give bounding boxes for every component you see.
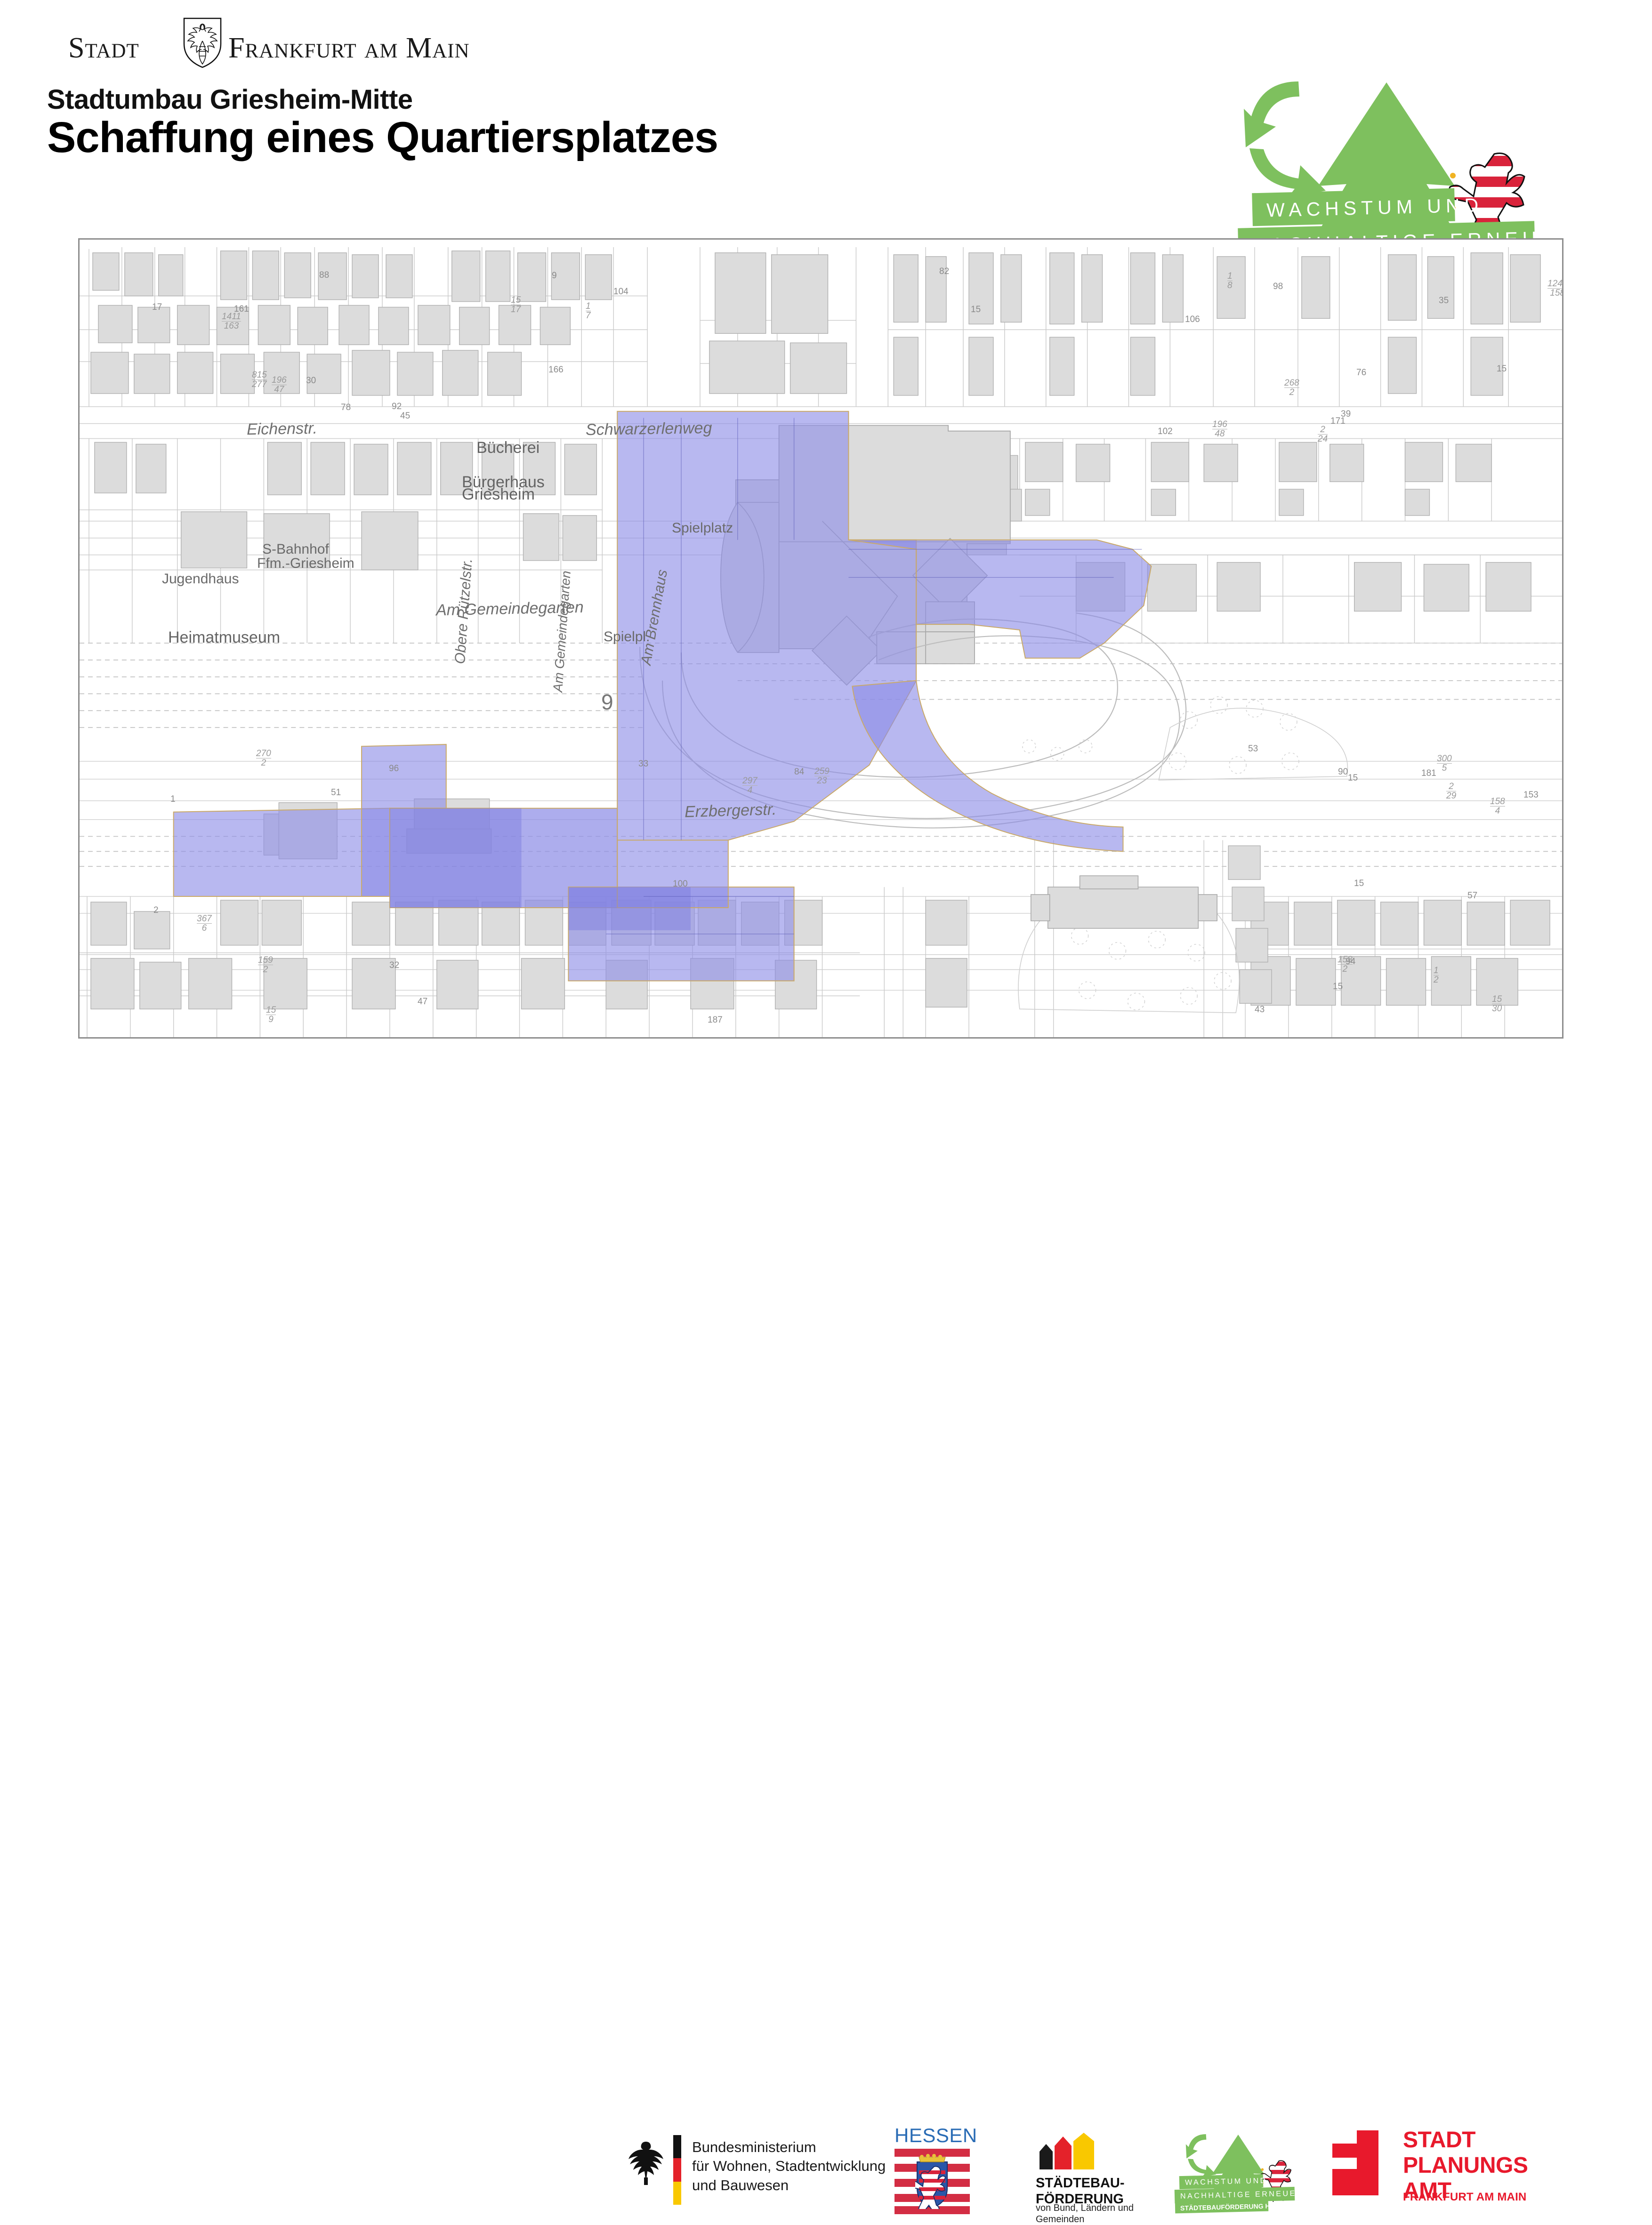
page-header: Stadt Frankfurt am Main Stadtumbau Gries… (0, 0, 1652, 221)
parcel-house-number: 84 (794, 767, 804, 777)
three-houses-icon (1036, 2133, 1106, 2169)
poi-label-buecherei: Bücherei (476, 439, 540, 457)
city-logo-word-frankfurt: Frankfurt am Main (228, 32, 470, 65)
bmwsb-logo: Bundesministerium für Wohnen, Stadtentwi… (626, 2135, 862, 2206)
parcel-fraction: 3676 (197, 914, 212, 933)
parcel-fraction: 2974 (742, 776, 758, 795)
street-label-schwarzerlenweg: Schwarzerlenweg (586, 419, 712, 439)
city-logo-word-stadt: Stadt (68, 32, 139, 65)
parcel-fraction: 1584 (1490, 797, 1505, 815)
bmwsb-line-2: für Wohnen, Stadtentwicklung (692, 2157, 886, 2176)
parcel-house-number: 187 (708, 1015, 723, 1025)
page-title: Schaffung eines Quartiersplatzes (47, 113, 718, 162)
wachstum-small-band-3: STÄDTEBAUFÖRDERUNG HESSEN (1175, 2201, 1269, 2214)
parcel-fraction: 2702 (256, 749, 271, 767)
parcel-fraction: 19648 (1212, 420, 1227, 438)
staedtebau-sub: von Bund, Ländern und Gemeinden (1036, 2202, 1134, 2225)
spa-line-1: STADT (1403, 2128, 1528, 2153)
poi-label-s-bahnhof: S-Bahnhof (262, 541, 329, 557)
parcel-fraction: 224 (1318, 425, 1328, 443)
parcel-house-number: 15 (1333, 982, 1343, 992)
bmwsb-text: Bundesministerium für Wohnen, Stadtentwi… (692, 2138, 886, 2195)
parcel-house-number: 106 (1185, 314, 1200, 325)
parcel-house-number: 15 (1497, 364, 1507, 374)
parcel-fraction: 815277 (252, 371, 267, 389)
parcel-house-number: 43 (1255, 1005, 1265, 1015)
map-graphics (80, 240, 1562, 1037)
parcel-fraction: 2682 (1284, 379, 1299, 397)
staedtebau-line-1: STÄDTEBAU- (1036, 2175, 1125, 2191)
parcel-house-number: 51 (331, 788, 341, 798)
parcel-house-number: 104 (613, 287, 629, 297)
parcel-house-number: 15 (971, 305, 981, 315)
parcel-fraction: 1248158 (1547, 279, 1563, 298)
spa-subline: FRANKFURT AM MAIN (1403, 2191, 1526, 2204)
parcel-house-number: 181 (1421, 768, 1436, 779)
parcel-house-number: 15 (1348, 773, 1358, 783)
parcel-fraction: 19647 (272, 376, 287, 394)
parcel-house-number: 166 (548, 365, 564, 375)
project-subtitle: Stadtumbau Griesheim-Mitte (47, 84, 413, 115)
funding-logo-bar: Bundesministerium für Wohnen, Stadtentwi… (0, 1059, 1652, 1168)
hessen-wordmark: HESSEN (894, 2124, 977, 2147)
parcel-house-number: 47 (418, 997, 427, 1007)
bundesadler-icon (626, 2139, 666, 2186)
parcel-fraction: 25923 (814, 767, 830, 785)
cadastral-map[interactable]: Eichenstr. Schwarzerlenweg Erzbergerstr.… (78, 238, 1563, 1039)
parcel-house-number: 1 (170, 794, 176, 805)
parcel-house-number: 33 (638, 759, 648, 769)
parcel-fraction: 1592 (258, 956, 273, 974)
parcel-fraction: 1517 (511, 296, 521, 314)
parcel-house-number: 88 (319, 270, 329, 281)
parcel-fraction: 229 (1446, 782, 1456, 800)
parcel-house-number: 57 (1467, 891, 1477, 901)
poi-label-jugendhaus: Jugendhaus (162, 571, 239, 587)
parcel-house-number: 45 (400, 411, 410, 421)
parcel-house-number: 76 (1356, 368, 1366, 378)
map-big-number: 9 (601, 689, 613, 715)
stadtplanungsamt-logo: STADT PLANUNGS AMT FRANKFURT AM MAIN (1332, 2130, 1530, 2208)
parcel-fraction: 1582 (1338, 955, 1353, 974)
parcel-fraction: 12 (1434, 966, 1439, 984)
hessen-logo: HESSEN (894, 2124, 975, 2214)
stadtplanungsamt-block-mark-icon (1332, 2130, 1393, 2195)
parcel-house-number: 32 (389, 960, 399, 971)
staedtebaufoerderung-logo: STÄDTEBAU- FÖRDERUNG von Bund, Ländern u… (1036, 2133, 1153, 2215)
staedtebau-sub-1: von Bund, Ländern und (1036, 2202, 1134, 2214)
german-flag-bar-icon (673, 2135, 681, 2205)
staedtebau-sub-2: Gemeinden (1036, 2214, 1134, 2225)
parcel-fraction: 159 (266, 1006, 276, 1024)
parcel-house-number: 82 (939, 266, 949, 277)
parcel-house-number: 35 (1439, 296, 1449, 306)
parcel-fraction: 17 (586, 302, 591, 320)
poi-label-ffm-griesheim: Ffm.-Griesheim (257, 556, 355, 572)
parcel-house-number: 98 (1273, 282, 1283, 292)
parcel-house-number: 2 (153, 905, 159, 916)
wachstum-band-1: WACHSTUM UND (1252, 188, 1455, 226)
parcel-house-number: 30 (306, 376, 316, 386)
parcel-house-number: 92 (392, 402, 402, 412)
parcel-house-number: 100 (673, 879, 688, 889)
parcel-house-number: 17 (152, 302, 162, 313)
bmwsb-line-1: Bundesministerium (692, 2138, 886, 2157)
parcel-house-number: 171 (1330, 416, 1346, 427)
poi-label-heimatmuseum: Heimatmuseum (168, 629, 280, 647)
hessen-lion-shield-icon (915, 2153, 949, 2209)
frankfurt-eagle-crest-icon (181, 16, 224, 68)
parcel-house-number: 78 (341, 403, 351, 413)
parcel-house-number: 96 (389, 764, 399, 774)
city-of-frankfurt-logo: Stadt Frankfurt am Main (68, 26, 370, 68)
poi-label-griesheim: Griesheim (462, 485, 535, 504)
spa-line-2: PLANUNGS (1403, 2153, 1528, 2178)
parcel-house-number: 15 (1354, 879, 1364, 889)
parcel-fraction: 1411163 (222, 312, 241, 331)
parcel-house-number: 153 (1523, 790, 1539, 800)
parcel-house-number: 90 (1338, 767, 1348, 777)
bmwsb-line-3: und Bauwesen (692, 2176, 886, 2195)
wachstum-small-band-1: WACHSTUM UND (1179, 2174, 1264, 2189)
parcel-house-number: 102 (1158, 427, 1173, 437)
street-label-erzbergerstr: Erzbergerstr. (684, 800, 776, 821)
poi-label-spielpl: Spielpl. (604, 629, 650, 645)
parcel-house-number: 53 (1248, 744, 1258, 754)
poi-label-spielplatz: Spielplatz (672, 520, 733, 536)
wachstum-erneuerung-logo-small: WACHSTUM UND NACHHALTIGE ERNEUERUNG STÄD… (1172, 2133, 1309, 2213)
hessen-flag (894, 2147, 970, 2214)
parcel-house-number: 9 (552, 271, 557, 281)
parcel-fraction: 3005 (1437, 754, 1452, 773)
parcel-fraction: 18 (1227, 272, 1233, 290)
street-label-eichenstr: Eichenstr. (247, 419, 318, 439)
parcel-fraction: 1530 (1492, 995, 1502, 1013)
